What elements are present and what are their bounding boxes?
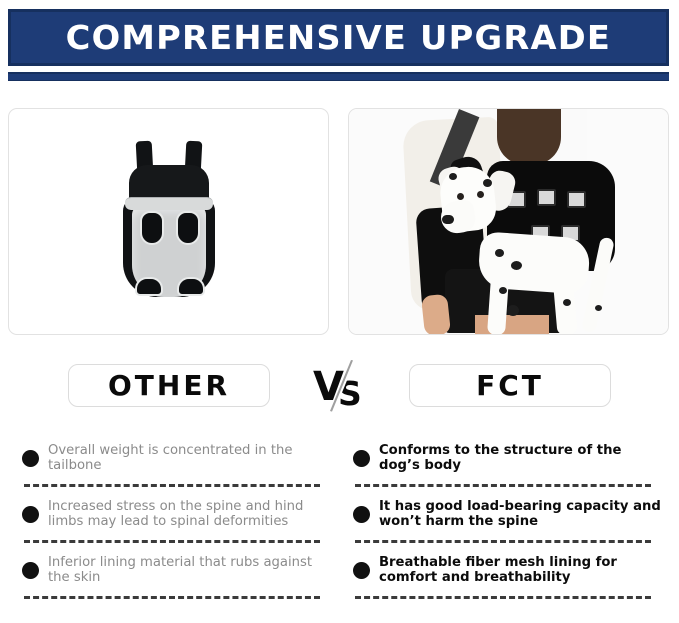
feature-comparison: Overall weight is concentrated in the ta… bbox=[0, 432, 679, 623]
model-hair bbox=[497, 109, 561, 165]
list-item: Conforms to the structure of the dog’s b… bbox=[353, 436, 664, 480]
list-item: It has good load-bearing capacity and wo… bbox=[353, 492, 664, 536]
model-leg bbox=[475, 315, 549, 334]
feature-divider bbox=[355, 540, 651, 543]
dog-spot bbox=[507, 305, 519, 316]
dog-eye-left bbox=[457, 193, 464, 200]
fct-brand-pill: FCT bbox=[409, 364, 611, 407]
header-underbar bbox=[8, 72, 669, 81]
feature-text: Breathable fiber mesh lining for comfort… bbox=[379, 555, 664, 586]
dog-nose bbox=[442, 215, 454, 224]
bullet-icon bbox=[22, 450, 39, 467]
fct-carrier-lifestyle-image bbox=[348, 108, 669, 335]
lifestyle-scene bbox=[349, 109, 668, 334]
feature-text: Conforms to the structure of the dog’s b… bbox=[379, 443, 664, 474]
list-item: Overall weight is concentrated in the ta… bbox=[22, 436, 319, 480]
vs-badge: V S bbox=[312, 358, 368, 414]
bullet-icon bbox=[353, 450, 370, 467]
other-feature-column: Overall weight is concentrated in the ta… bbox=[0, 432, 339, 623]
feature-text: Inferior lining material that rubs again… bbox=[48, 555, 319, 586]
bullet-icon bbox=[353, 562, 370, 579]
feature-divider bbox=[355, 596, 651, 599]
feature-divider bbox=[24, 596, 320, 599]
list-item: Inferior lining material that rubs again… bbox=[22, 548, 319, 592]
carrier-leg-hole-right bbox=[176, 211, 200, 245]
feature-divider bbox=[24, 540, 320, 543]
fct-feature-column: Conforms to the structure of the dog’s b… bbox=[339, 432, 678, 623]
list-item: Increased stress on the spine and hind l… bbox=[22, 492, 319, 536]
bullet-icon bbox=[353, 506, 370, 523]
other-brand-carrier-image bbox=[8, 108, 329, 335]
carrier-elastic-band bbox=[125, 197, 213, 210]
product-image-row bbox=[8, 108, 669, 335]
feature-text: It has good load-bearing capacity and wo… bbox=[379, 499, 664, 530]
dog-spot bbox=[499, 287, 507, 294]
carrier-buckle-3 bbox=[567, 191, 586, 208]
fct-brand-label: FCT bbox=[476, 372, 544, 400]
dog-eye-right bbox=[477, 191, 484, 198]
dog-spot bbox=[511, 261, 522, 270]
feature-text: Increased stress on the spine and hind l… bbox=[48, 499, 319, 530]
feature-divider bbox=[24, 484, 320, 487]
list-item: Breathable fiber mesh lining for comfort… bbox=[353, 548, 664, 592]
other-brand-label: OTHER bbox=[108, 372, 230, 400]
carrier-foot-hole-left bbox=[135, 277, 163, 296]
page-title: COMPREHENSIVE UPGRADE bbox=[66, 21, 612, 54]
model-hand bbox=[421, 294, 451, 334]
dog-spot bbox=[563, 299, 571, 306]
dog-spot bbox=[483, 179, 492, 187]
carrier-leg-hole-left bbox=[140, 211, 164, 245]
dog-spot bbox=[595, 305, 602, 311]
feature-text: Overall weight is concentrated in the ta… bbox=[48, 443, 319, 474]
dog-spot bbox=[495, 249, 504, 257]
brand-comparison-row: OTHER V S FCT bbox=[0, 362, 679, 410]
carrier-buckle-2 bbox=[537, 189, 556, 206]
carrier-product-illustration bbox=[109, 137, 229, 307]
bullet-icon bbox=[22, 506, 39, 523]
bullet-icon bbox=[22, 562, 39, 579]
carrier-foot-hole-right bbox=[177, 277, 205, 296]
other-brand-pill: OTHER bbox=[68, 364, 270, 407]
dog-spot bbox=[449, 173, 457, 180]
feature-divider bbox=[355, 484, 651, 487]
header-banner: COMPREHENSIVE UPGRADE bbox=[8, 9, 669, 66]
